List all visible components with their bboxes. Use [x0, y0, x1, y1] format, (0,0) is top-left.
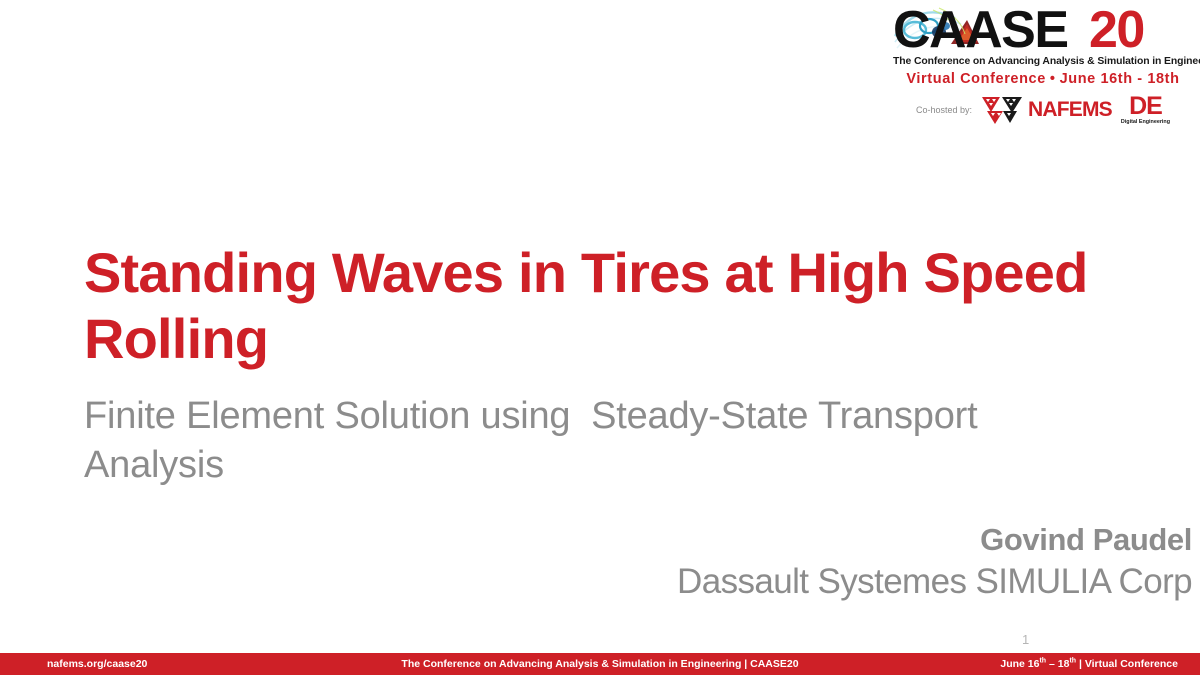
author-affiliation: Dassault Systemes SIMULIA Corp	[492, 561, 1192, 602]
svg-text:20: 20	[1089, 2, 1144, 54]
author-name: Govind Paudel	[492, 522, 1192, 559]
footer-date-dash: – 18	[1046, 658, 1069, 670]
de-wordmark: DE	[1121, 94, 1170, 119]
nafems-wordmark: NAFEMS	[1028, 98, 1112, 122]
page-number: 1	[1022, 632, 1029, 647]
svg-text:CAASE: CAASE	[893, 2, 1068, 54]
slide-title: Standing Waves in Tires at High Speed Ro…	[84, 240, 1114, 372]
digital-engineering-logo: DE Digital Engineering	[1121, 94, 1170, 125]
nafems-triangle-icon	[979, 95, 1025, 125]
cohost-label: Co-hosted by:	[916, 105, 972, 115]
footer-date-start: June 16	[1000, 658, 1039, 670]
caase20-wordmark-icon: CAASE 20	[893, 2, 1193, 54]
author-block: Govind Paudel Dassault Systemes SIMULIA …	[492, 522, 1192, 602]
slide-subtitle: Finite Element Solution using Steady-Sta…	[84, 392, 1124, 491]
logo-conference-dates: June 16th - 18th	[1060, 71, 1180, 87]
logo-conference-mode: Virtual Conference	[906, 71, 1045, 87]
logo-conference-line: Virtual Conference•June 16th - 18th	[893, 71, 1193, 87]
caase20-logo: CAASE 20 The Conference on Advancing Ana…	[893, 2, 1193, 128]
cohost-row: Co-hosted by:	[893, 92, 1193, 128]
footer-dates: June 16th – 18th | Virtual Conference	[1000, 653, 1178, 675]
logo-tagline: The Conference on Advancing Analysis & S…	[893, 56, 1193, 67]
slide-canvas: CAASE 20 The Conference on Advancing Ana…	[0, 0, 1200, 675]
footer-date-tail: | Virtual Conference	[1076, 658, 1178, 670]
footer-bar: nafems.org/caase20 The Conference on Adv…	[0, 653, 1200, 675]
de-subtitle: Digital Engineering	[1121, 120, 1170, 125]
logo-separator-dot: •	[1046, 71, 1060, 87]
